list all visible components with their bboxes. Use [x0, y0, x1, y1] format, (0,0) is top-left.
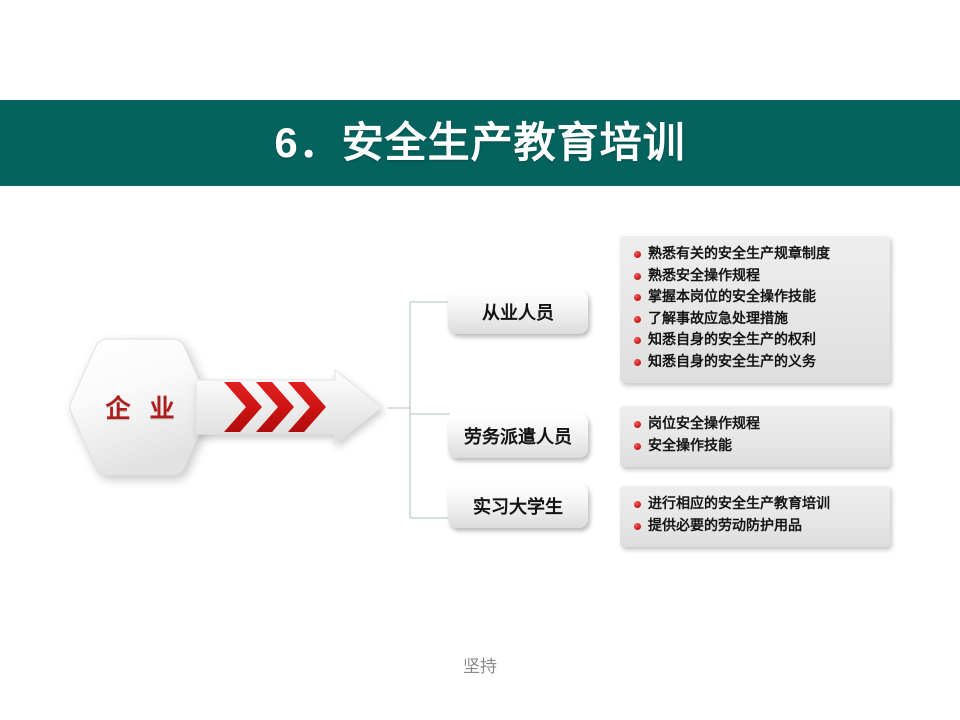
- list-item-text: 熟悉有关的安全生产规章制度: [648, 244, 830, 266]
- list-item-text: 安全操作技能: [648, 436, 732, 458]
- list-item-text: 提供必要的劳动防护用品: [648, 516, 802, 538]
- bullet-dot-icon: [634, 501, 641, 508]
- bullet-dot-icon: [634, 316, 641, 323]
- list-item: 进行相应的安全生产教育培训: [630, 494, 882, 516]
- list-item: 安全操作技能: [630, 436, 882, 458]
- list-item-text: 岗位安全操作规程: [648, 414, 760, 436]
- list-item: 熟悉有关的安全生产规章制度: [630, 244, 882, 266]
- branch-label-text: 劳务派遣人员: [464, 423, 572, 449]
- requirements-panel-employees: 熟悉有关的安全生产规章制度 熟悉安全操作规程 掌握本岗位的安全操作技能 了解事故…: [620, 235, 890, 383]
- bullet-dot-icon: [634, 273, 641, 280]
- list-item-text: 熟悉安全操作规程: [648, 266, 760, 288]
- bullet-dot-icon: [634, 523, 641, 530]
- list-item-text: 掌握本岗位的安全操作技能: [648, 287, 816, 309]
- bullet-dot-icon: [634, 337, 641, 344]
- list-item: 知悉自身的安全生产的义务: [630, 352, 882, 374]
- branch-label-text: 实习大学生: [473, 493, 563, 519]
- bullet-dot-icon: [634, 359, 641, 366]
- bullet-dot-icon: [634, 251, 641, 258]
- footer-note: 坚持: [0, 652, 960, 677]
- bullet-dot-icon: [634, 294, 641, 301]
- list-item: 提供必要的劳动防护用品: [630, 516, 882, 538]
- page-title: 6．安全生产教育培训: [274, 122, 685, 164]
- branch-label-employees[interactable]: 从业人员: [448, 290, 588, 334]
- list-item: 知悉自身的安全生产的权利: [630, 330, 882, 352]
- list-item: 熟悉安全操作规程: [630, 266, 882, 288]
- list-item: 了解事故应急处理措施: [630, 309, 882, 331]
- list-item: 岗位安全操作规程: [630, 414, 882, 436]
- hexagon-label: 企 业: [68, 336, 212, 478]
- requirements-panel-dispatched-workers: 岗位安全操作规程 安全操作技能: [620, 405, 890, 467]
- branch-connector: [340, 290, 460, 530]
- branch-label-text: 从业人员: [482, 299, 554, 325]
- title-banner: 6．安全生产教育培训: [0, 100, 960, 186]
- enterprise-hexagon-node[interactable]: 企 业: [68, 336, 212, 478]
- list-item-text: 进行相应的安全生产教育培训: [648, 494, 830, 516]
- requirements-panel-intern-students: 进行相应的安全生产教育培训 提供必要的劳动防护用品: [620, 485, 890, 547]
- list-item-text: 知悉自身的安全生产的权利: [648, 330, 816, 352]
- list-item-text: 了解事故应急处理措施: [648, 309, 788, 331]
- branch-label-dispatched-workers[interactable]: 劳务派遣人员: [448, 414, 588, 458]
- list-item: 掌握本岗位的安全操作技能: [630, 287, 882, 309]
- branch-label-intern-students[interactable]: 实习大学生: [448, 484, 588, 528]
- list-item-text: 知悉自身的安全生产的义务: [648, 352, 816, 374]
- bullet-dot-icon: [634, 443, 641, 450]
- bullet-dot-icon: [634, 421, 641, 428]
